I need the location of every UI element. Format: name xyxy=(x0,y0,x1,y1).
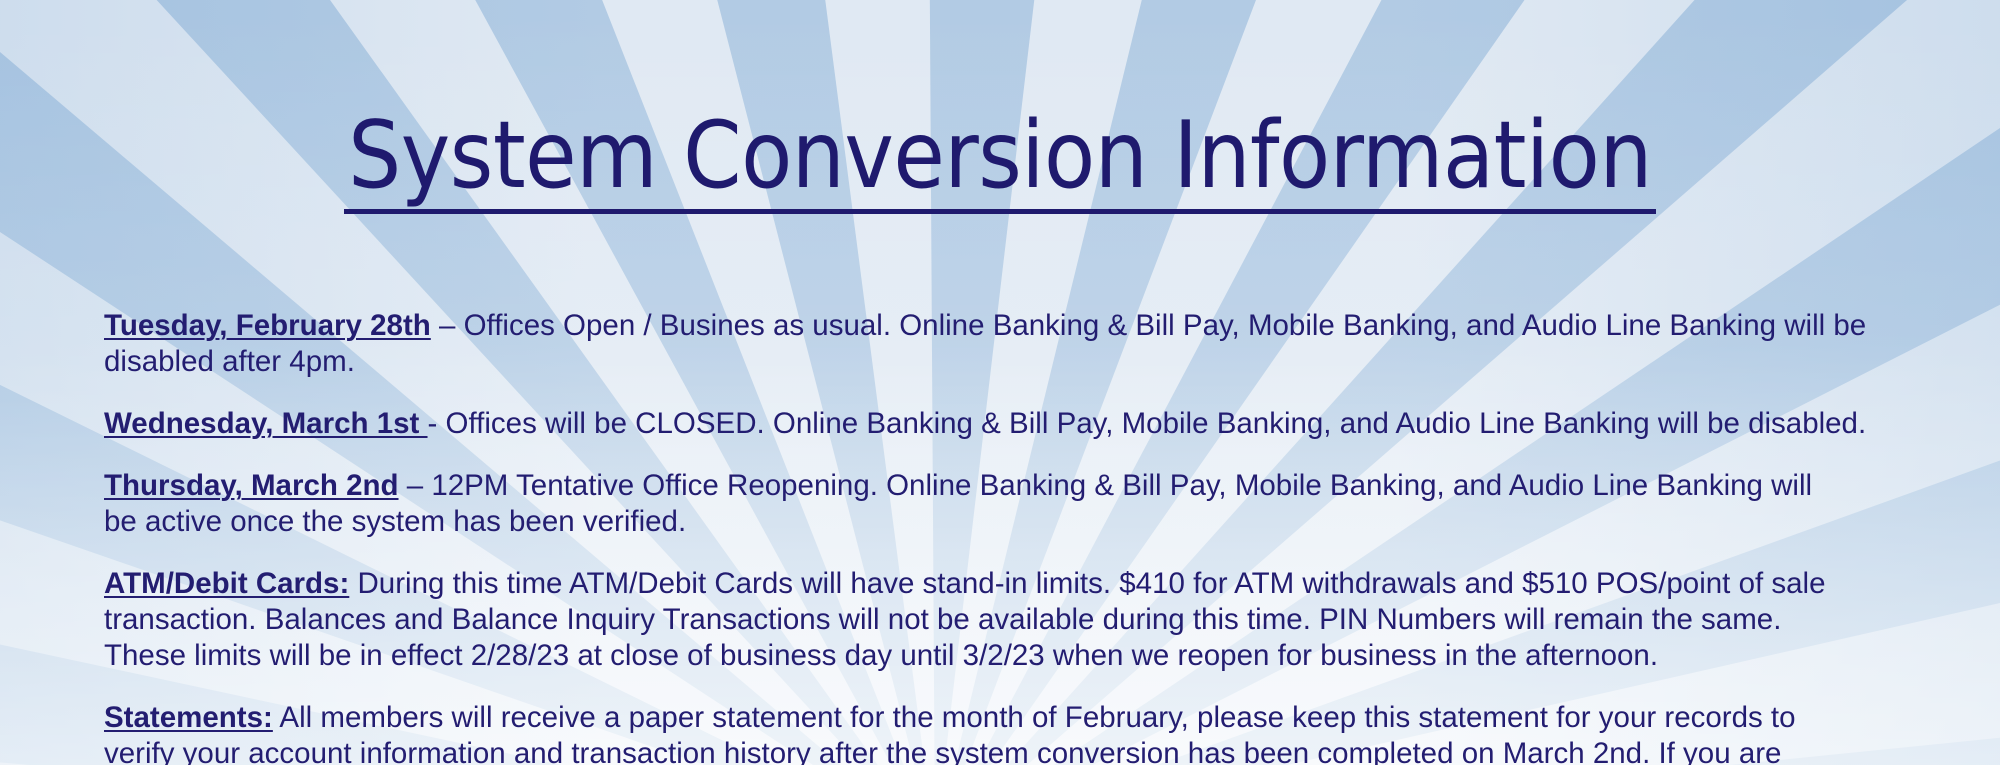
paragraph-lead-thursday: Thursday, March 2nd xyxy=(104,469,399,502)
paragraph-statements: Statements: All members will receive a p… xyxy=(104,700,1870,765)
paragraph-text-statements: All members will receive a paper stateme… xyxy=(104,701,1814,765)
paragraph-thursday: Thursday, March 2nd – 12PM Tentative Off… xyxy=(104,468,1834,540)
paragraph-wednesday: Wednesday, March 1st - Offices will be C… xyxy=(104,406,1870,442)
paragraph-text-atm-debit-cards: During this time ATM/Debit Cards will ha… xyxy=(104,567,1825,672)
paragraph-lead-atm-debit-cards: ATM/Debit Cards: xyxy=(104,567,349,600)
system-conversion-banner: System Conversion Information Tuesday, F… xyxy=(0,0,2000,765)
page-title: System Conversion Information xyxy=(344,108,1656,214)
paragraph-lead-wednesday: Wednesday, March 1st xyxy=(104,407,428,440)
paragraph-tuesday: Tuesday, February 28th – Offices Open / … xyxy=(104,308,1870,380)
body-paragraph-list: Tuesday, February 28th – Offices Open / … xyxy=(0,308,1870,765)
paragraph-atm-debit-cards: ATM/Debit Cards: During this time ATM/De… xyxy=(104,566,1870,674)
paragraph-text-wednesday: - Offices will be CLOSED. Online Banking… xyxy=(428,407,1867,440)
page-title-container: System Conversion Information xyxy=(0,0,2000,276)
paragraph-lead-statements: Statements: xyxy=(104,701,273,734)
paragraph-lead-tuesday: Tuesday, February 28th xyxy=(104,309,431,342)
